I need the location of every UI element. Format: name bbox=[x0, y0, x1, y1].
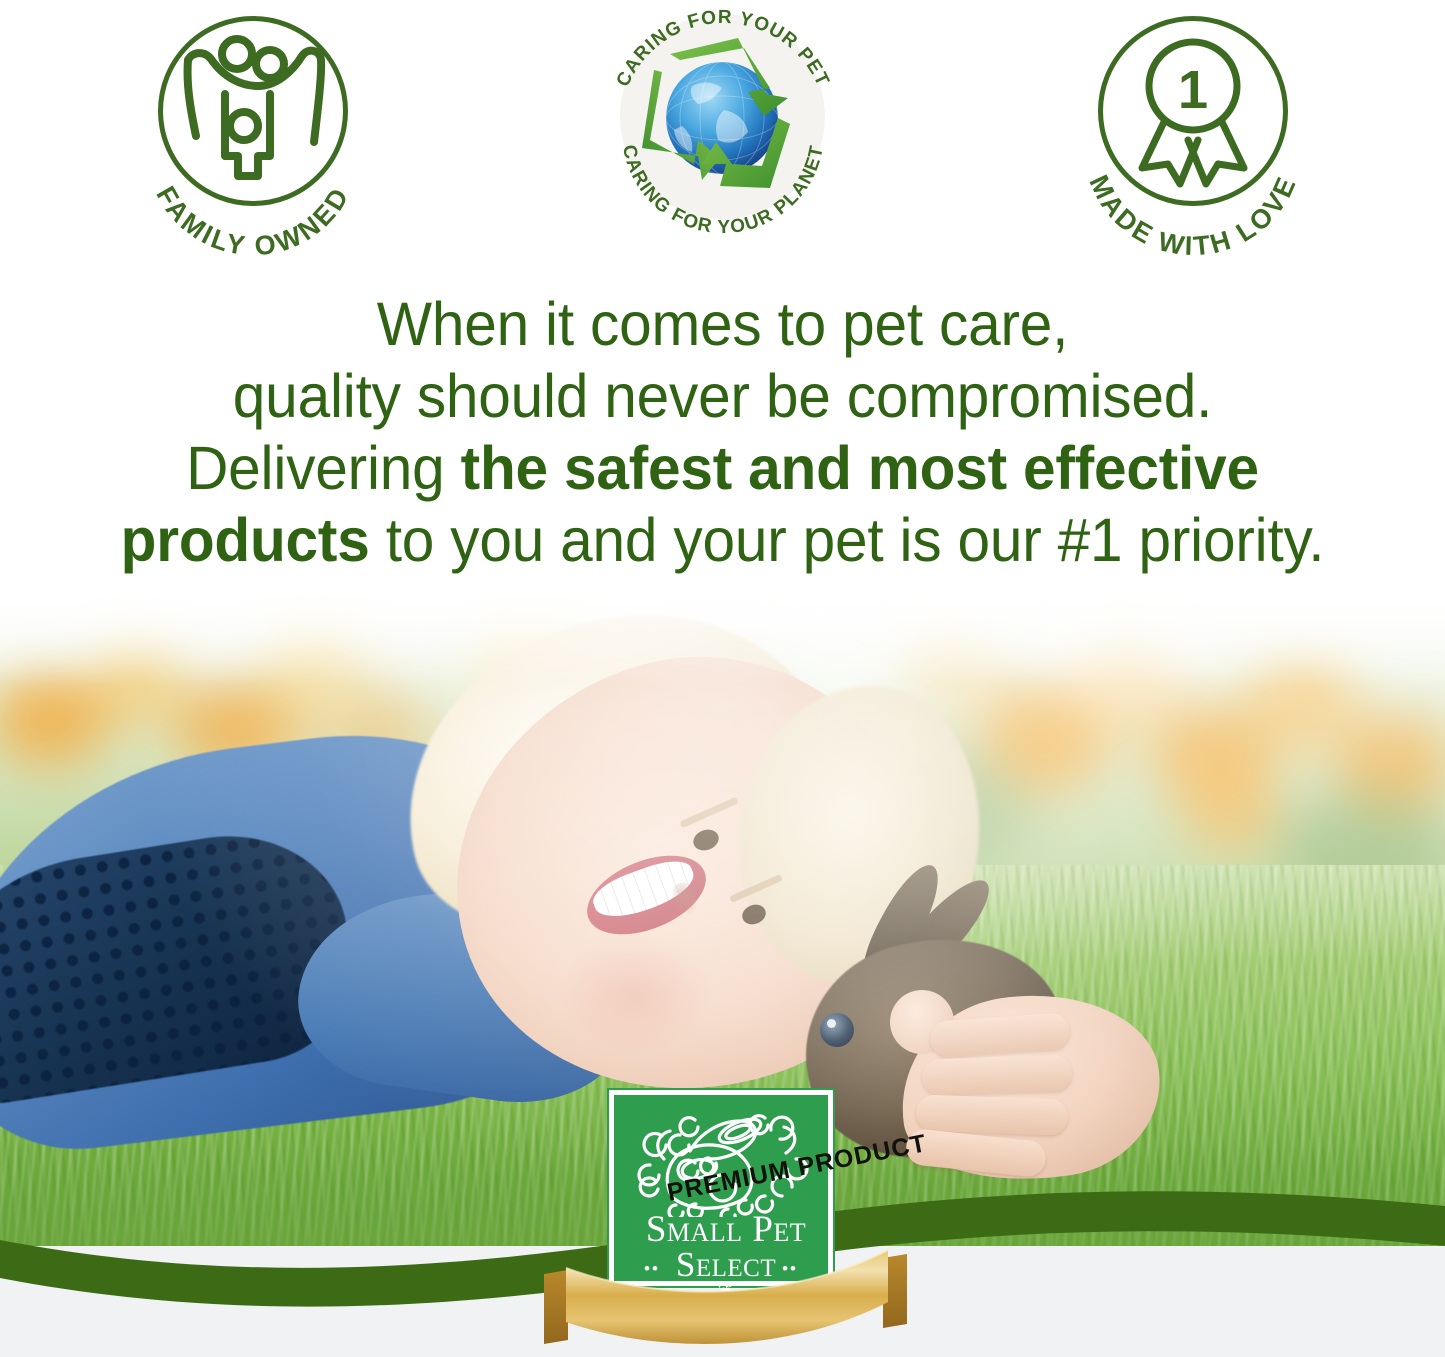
badge-made-with-love-label: MADE WITH LOVE bbox=[1083, 171, 1302, 258]
photo-top-fade bbox=[0, 565, 1445, 685]
svg-text:CARING FOR YOUR PLANET: CARING FOR YOUR PLANET bbox=[617, 143, 827, 238]
badge-label-arc: MADE WITH LOVE bbox=[1068, 8, 1318, 258]
headline-line-3-pre: Delivering bbox=[186, 434, 461, 502]
svg-text:CARING FOR YOUR PET: CARING FOR YOUR PET bbox=[612, 8, 833, 90]
badge-caring-recycle: CARING FOR YOUR PET CARING FOR YOUR PLAN… bbox=[598, 8, 848, 258]
svg-text:FAMILY OWNED: FAMILY OWNED bbox=[150, 181, 355, 258]
badge-family-owned: FAMILY OWNED bbox=[128, 8, 378, 258]
headline-line-4-post: to you and your pet is our #1 priority. bbox=[370, 506, 1325, 574]
trust-badge-row: FAMILY OWNED bbox=[0, 0, 1445, 265]
badge-family-owned-label: FAMILY OWNED bbox=[150, 181, 355, 258]
headline-line-3-bold: the safest and most effective bbox=[461, 434, 1259, 502]
badge-made-with-love: 1 MADE WITH LOVE bbox=[1068, 8, 1318, 258]
badge-label-arcs: CARING FOR YOUR PET CARING FOR YOUR PLAN… bbox=[598, 8, 848, 258]
premium-ribbon bbox=[538, 1240, 913, 1352]
headline-line-2: quality should never be compromised. bbox=[29, 360, 1416, 432]
svg-text:MADE WITH LOVE: MADE WITH LOVE bbox=[1083, 171, 1302, 258]
headline-line-1: When it comes to pet care, bbox=[29, 288, 1416, 360]
brand-logo[interactable]: Small Pet Select •• •• ❦ bbox=[609, 1090, 841, 1320]
headline-line-3: Delivering the safest and most effective bbox=[29, 432, 1416, 504]
headline-line-4: products to you and your pet is our #1 p… bbox=[29, 504, 1416, 576]
headline-block: When it comes to pet care, quality shoul… bbox=[29, 288, 1416, 576]
badge-caring-planet-label: CARING FOR YOUR PLANET bbox=[617, 143, 827, 238]
badge-caring-pet-label: CARING FOR YOUR PET bbox=[612, 8, 833, 90]
promo-banner: FAMILY OWNED bbox=[0, 0, 1445, 1357]
headline-line-4-bold: products bbox=[121, 506, 370, 574]
badge-label-arc: FAMILY OWNED bbox=[128, 8, 378, 258]
